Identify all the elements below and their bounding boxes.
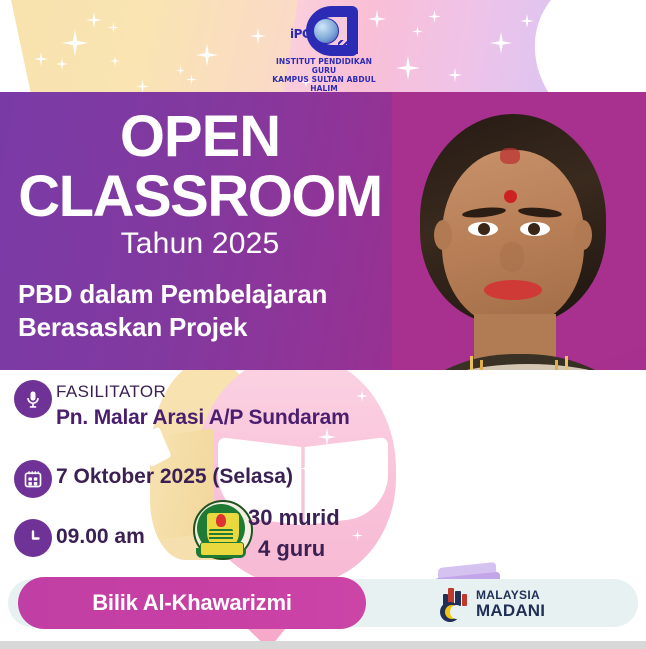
crescent-moon-icon (440, 602, 460, 622)
page-title-line1: OPEN (0, 108, 400, 166)
ipg-logo: iPG INSTITUT PENDIDIKAN GURU KAMPUS SULT… (268, 6, 380, 86)
photo-nose (500, 242, 524, 272)
madani-building-3 (462, 594, 467, 606)
ipg-logo-text: iPG (290, 27, 311, 41)
sparkle-icon (396, 56, 420, 80)
teachers-count: 4 guru (258, 536, 325, 562)
poster-canvas: iPG INSTITUT PENDIDIKAN GURU KAMPUS SULT… (0, 0, 646, 649)
top-decorative-banner: iPG INSTITUT PENDIDIKAN GURU KAMPUS SULT… (0, 0, 646, 92)
clock-icon (14, 519, 52, 557)
crest-flame (216, 514, 226, 527)
institution-name-line2: KAMPUS SULTAN ABDUL HALIM (268, 75, 380, 92)
calendar-icon (14, 460, 52, 498)
institution-name-line1: INSTITUT PENDIDIKAN GURU (268, 57, 380, 75)
photo-pupil-right (528, 223, 540, 235)
subtitle-line1: PBD dalam Pembelajaran (18, 278, 398, 311)
photo-lips (484, 280, 542, 300)
globe-icon (313, 18, 339, 44)
sparkle-icon (428, 10, 441, 23)
event-time: 09.00 am (56, 525, 145, 549)
facilitator-name: Pn. Malar Arasi A/P Sundaram (56, 406, 350, 430)
madani-mark (438, 588, 470, 620)
crest-books (209, 529, 233, 541)
crest-ribbon (200, 542, 244, 556)
facilitator-label: FASILITATOR (56, 382, 166, 402)
ipg-stripes (338, 40, 358, 54)
photo-hair-part (500, 148, 520, 164)
subtitle-line2: Berasaskan Projek (18, 311, 398, 344)
sparkle-icon (490, 32, 512, 54)
cream-diagonal-shape (0, 0, 300, 92)
sparkle-icon (412, 26, 423, 37)
event-date: 7 Oktober 2025 (Selasa) (56, 465, 293, 489)
page-title-line2: CLASSROOM (0, 168, 400, 226)
venue-pill[interactable]: Bilik Al-Khawarizmi (18, 577, 366, 629)
school-crest-icon (190, 498, 252, 560)
white-swoosh-right (526, 0, 646, 92)
photo-bindi (504, 190, 517, 203)
sparkle-icon (448, 68, 462, 82)
madani-text-line1: MALAYSIA (476, 588, 540, 602)
microphone-icon (14, 380, 52, 418)
photo-pupil-left (478, 223, 490, 235)
year-label: Tahun 2025 (0, 227, 400, 261)
bottom-bar: Bilik Al-Khawarizmi MALAYSIA MADANI (8, 579, 638, 627)
photo-ear-left (434, 220, 452, 250)
ipg-logo-mark: iPG (288, 6, 360, 56)
sparkle-icon (520, 14, 534, 28)
bottom-edge-strip (0, 641, 646, 649)
photo-ear-right (574, 220, 592, 250)
subtitle: PBD dalam Pembelajaran Berasaskan Projek (18, 278, 398, 344)
venue-label: Bilik Al-Khawarizmi (92, 590, 292, 616)
institution-name: INSTITUT PENDIDIKAN GURU KAMPUS SULTAN A… (268, 57, 380, 92)
malaysia-madani-logo: MALAYSIA MADANI (438, 586, 568, 622)
madani-text-line2: MADANI (476, 601, 545, 621)
students-count: 30 murid (248, 505, 340, 531)
